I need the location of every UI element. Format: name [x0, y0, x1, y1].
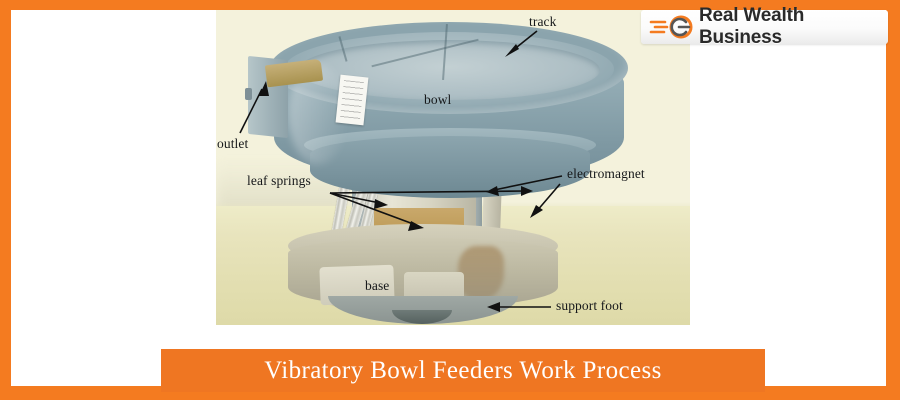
label-bowl: bowl — [424, 92, 451, 108]
title-banner: Vibratory Bowl Feeders Work Process — [161, 349, 765, 392]
brand-logo[interactable]: Real Wealth Business — [641, 10, 888, 44]
paper-tag — [336, 75, 369, 126]
label-outlet: outlet — [217, 136, 248, 152]
brand-name: Real Wealth Business — [699, 5, 888, 49]
base-rust-stain — [458, 246, 504, 300]
banner-title: Vibratory Bowl Feeders Work Process — [264, 357, 661, 385]
label-support-foot: support foot — [556, 298, 623, 314]
label-track: track — [529, 14, 556, 30]
bowl-lower-flange — [310, 136, 590, 198]
frame-border-left — [0, 0, 11, 400]
label-base: base — [365, 278, 389, 294]
label-electromagnet: electromagnet — [567, 166, 645, 182]
frame-border-right — [886, 0, 900, 400]
page-root: track bowl outlet leaf springs electroma… — [0, 0, 900, 400]
outlet-bolt — [245, 88, 252, 100]
label-leaf-springs: leaf springs — [247, 173, 311, 189]
speed-circle-icon — [649, 14, 697, 40]
